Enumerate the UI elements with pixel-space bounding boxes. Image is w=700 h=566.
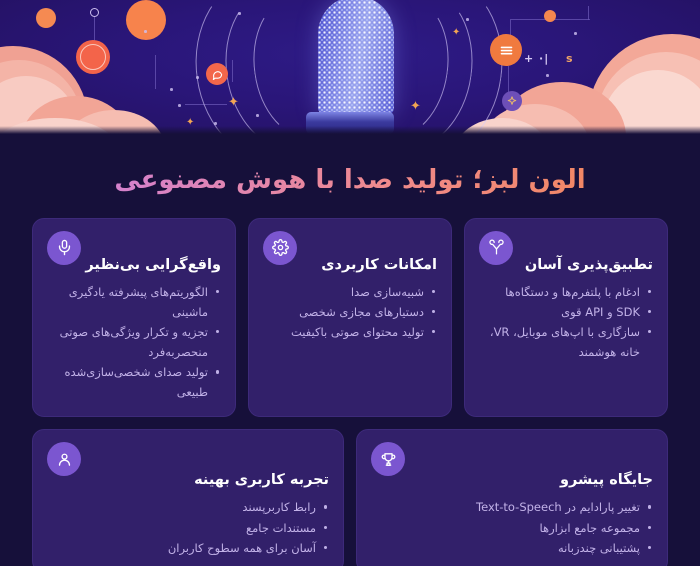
- list-item: شبیه‌سازی صدا: [263, 282, 437, 302]
- puzzle-icon: [479, 231, 513, 265]
- list-item: تولید محتوای صوتی باکیفیت: [263, 322, 437, 342]
- card-bullet-list: شبیه‌سازی صدا دستیارهای مجازی شخصی تولید…: [263, 282, 437, 342]
- microphone-icon: [47, 231, 81, 265]
- list-item: دستیارهای مجازی شخصی: [263, 302, 437, 322]
- hero-bottom-fade: [0, 126, 700, 134]
- list-item: پشتیبانی چندزبانه: [371, 538, 653, 558]
- star-dot: [546, 74, 549, 77]
- list-item: سازگاری با اپ‌های موبایل، VR، خانه هوشمن…: [479, 322, 653, 362]
- feature-card-grid-row1: تطبیق‌پذیری آسان ادغام با پلتفرم‌ها و دس…: [32, 218, 668, 418]
- list-item: مجموعه جامع ابزارها: [371, 518, 653, 538]
- feature-card-capabilities[interactable]: امکانات کاربردی شبیه‌سازی صدا دستیارهای …: [248, 218, 452, 418]
- feature-card-adaptability[interactable]: تطبیق‌پذیری آسان ادغام با پلتفرم‌ها و دس…: [464, 218, 668, 418]
- glyph-dots: |· +: [524, 52, 549, 65]
- card-bullet-list: رابط کاربرپسند مستندات جامع آسان برای هم…: [47, 497, 329, 557]
- card-bullet-list: ادغام با پلتفرم‌ها و دستگاه‌ها SDK و API…: [479, 282, 653, 363]
- hero-banner: ✦ ✦ ✦ ✦ s |· +: [0, 0, 700, 134]
- star-sparkle-icon: ✦: [452, 28, 460, 38]
- feature-card-leadership[interactable]: جایگاه پیشرو تغییر پارادایم در Text-to-S…: [356, 429, 668, 566]
- ring-outline: [90, 8, 99, 17]
- star-sparkle-icon: ✦: [410, 100, 421, 113]
- microphone-grille: [318, 0, 394, 114]
- list-item: تغییر پارادایم در Text-to-Speech: [371, 497, 653, 517]
- star-dot: [170, 88, 173, 91]
- list-item: تجزیه و تکرار ویژگی‌های صوتی منحصربه‌فرد: [47, 322, 221, 362]
- feature-card-user-experience[interactable]: تجربه کاربری بهینه رابط کاربرپسند مستندا…: [32, 429, 344, 566]
- chat-bubble-icon: [206, 63, 228, 85]
- feature-card-realism[interactable]: واقع‌گرایی بی‌نظیر الگوریتم‌های پیشرفته …: [32, 218, 236, 418]
- list-item: SDK و API قوی: [479, 302, 653, 322]
- page-title: الون لبز؛ تولید صدا با هوش مصنوعی: [0, 162, 700, 200]
- list-item: آسان برای همه سطوح کاربران: [47, 538, 329, 558]
- ring-outline: [80, 44, 106, 70]
- hero-artwork: ✦ ✦ ✦ ✦ s |· +: [0, 0, 700, 134]
- planet-circle: [544, 10, 556, 22]
- connector-line: [508, 66, 509, 92]
- menu-list-icon: [490, 34, 522, 66]
- gear-icon: [263, 231, 297, 265]
- star-sparkle-icon: ✦: [228, 96, 239, 109]
- list-item: ادغام با پلتفرم‌ها و دستگاه‌ها: [479, 282, 653, 302]
- sparkle-badge-icon: [502, 91, 522, 111]
- microphone-illustration: [306, 0, 394, 134]
- card-title: جایگاه پیشرو: [371, 472, 653, 488]
- list-item: مستندات جامع: [47, 518, 329, 538]
- feature-card-grid-row2: جایگاه پیشرو تغییر پارادایم در Text-to-S…: [32, 429, 668, 566]
- glyph-mark: s: [566, 52, 574, 65]
- star-dot: [196, 76, 199, 79]
- trophy-icon: [371, 442, 405, 476]
- star-dot: [574, 32, 577, 35]
- star-dot: [144, 30, 147, 33]
- user-icon: [47, 442, 81, 476]
- star-dot: [256, 114, 259, 117]
- list-item: رابط کاربرپسند: [47, 497, 329, 517]
- card-bullet-list: تغییر پارادایم در Text-to-Speech مجموعه …: [371, 497, 653, 557]
- card-title: تجربه کاربری بهینه: [47, 472, 329, 488]
- card-bullet-list: الگوریتم‌های پیشرفته یادگیری ماشینی تجزی…: [47, 282, 221, 403]
- list-item: تولید صدای شخصی‌سازی‌شده طبیعی: [47, 362, 221, 402]
- list-item: الگوریتم‌های پیشرفته یادگیری ماشینی: [47, 282, 221, 322]
- star-dot: [238, 12, 241, 15]
- star-dot: [466, 18, 469, 21]
- connector-line: [588, 6, 589, 20]
- star-dot: [214, 122, 217, 125]
- star-dot: [178, 104, 181, 107]
- planet-circle: [36, 8, 56, 28]
- planet-circle: [126, 0, 166, 40]
- connector-line: [155, 55, 156, 89]
